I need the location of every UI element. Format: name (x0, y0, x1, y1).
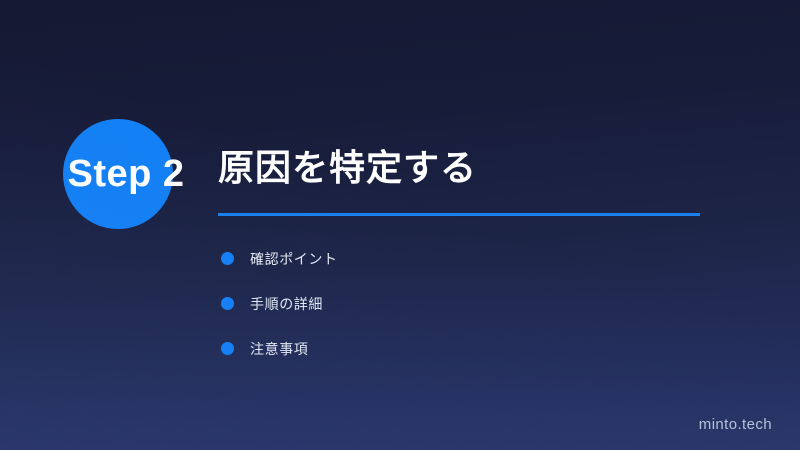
title-divider (218, 213, 700, 216)
slide-title: 原因を特定する (218, 146, 477, 190)
bullet-dot-icon (221, 342, 234, 355)
bullet-label: 注意事項 (250, 339, 308, 359)
list-item: 注意事項 (220, 326, 690, 371)
list-item: 手順の詳細 (220, 281, 690, 326)
footer-branding: minto.tech (699, 416, 772, 433)
bullet-label: 確認ポイント (250, 249, 338, 269)
presentation-slide: Step 2 原因を特定する 確認ポイント 手順の詳細 注意事項 minto.t… (0, 0, 800, 450)
bullet-dot-icon (221, 252, 234, 265)
step-label: Step 2 (46, 152, 206, 196)
bullet-dot-icon (221, 297, 234, 310)
bullet-list: 確認ポイント 手順の詳細 注意事項 (220, 236, 690, 371)
bullet-label: 手順の詳細 (250, 294, 323, 314)
list-item: 確認ポイント (220, 236, 690, 281)
